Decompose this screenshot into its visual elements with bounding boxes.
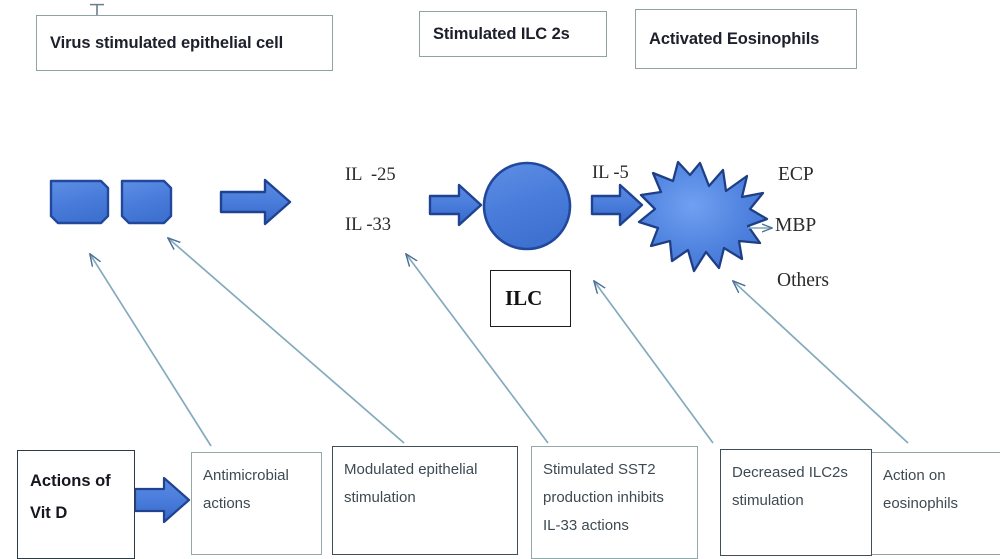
block-arrow-cytokines-to-ilc: [430, 185, 481, 225]
il-25-label: IL -25: [345, 165, 396, 186]
activated-eosinophil-shape: [639, 162, 767, 271]
ecp-label: ECP: [778, 164, 814, 186]
action-on-eosinophils-label: Action on eosinophils: [872, 453, 958, 518]
virus-stimulated-epithelial-cell-box[interactable]: Virus stimulated epithelial cell: [36, 15, 333, 71]
il-33-label: IL -33: [345, 215, 391, 236]
decreased-ilc2s-stimulation-label: Decreased ILC2s stimulation: [721, 450, 848, 515]
connector-decreased-ilc2s-to-ilc: [594, 281, 713, 443]
connector-antimicrobial-to-epithelium: [90, 254, 211, 446]
stimulated-ilc2s-box[interactable]: Stimulated ILC 2s: [419, 11, 607, 57]
ilc-label: ILC: [491, 286, 542, 311]
antimicrobial-actions-label: Antimicrobial actions: [192, 453, 289, 518]
mbp-label: MBP: [775, 215, 816, 237]
action-on-eosinophils-box[interactable]: Action on eosinophils: [872, 452, 1000, 555]
actions-of-vit-d-box[interactable]: Actions of Vit D: [17, 450, 135, 559]
ilc-label-box[interactable]: ILC: [490, 270, 571, 327]
tick-mark-above-epithelial-box: [90, 4, 104, 15]
antimicrobial-actions-box[interactable]: Antimicrobial actions: [191, 452, 322, 555]
epithelial-cell-shape-2: [122, 181, 171, 223]
diagram-canvas: Virus stimulated epithelial cell Stimula…: [0, 0, 1000, 559]
block-arrow-ilc-to-eosinophil: [592, 185, 642, 225]
block-arrow-epithelium-to-cytokines: [221, 180, 290, 224]
modulated-epithelial-stimulation-box[interactable]: Modulated epithelial stimulation: [332, 446, 518, 555]
stimulated-sst2-production-box[interactable]: Stimulated SST2 production inhibits IL-3…: [531, 446, 698, 559]
stimulated-ilc2s-label: Stimulated ILC 2s: [420, 25, 570, 43]
others-label: Others: [777, 270, 829, 292]
il-5-label: IL -5: [592, 163, 629, 184]
connector-modulated-epithelial-to-epithelium: [168, 238, 404, 443]
activated-eosinophils-box[interactable]: Activated Eosinophils: [635, 9, 857, 69]
activated-eosinophils-label: Activated Eosinophils: [636, 30, 819, 48]
ilc-cell-circle: [484, 163, 570, 249]
connector-action-on-eosinophils-to-eosinophil: [733, 281, 908, 443]
modulated-epithelial-stimulation-label: Modulated epithelial stimulation: [333, 447, 477, 512]
stimulated-sst2-production-label: Stimulated SST2 production inhibits IL-3…: [532, 447, 664, 539]
virus-stimulated-epithelial-cell-label: Virus stimulated epithelial cell: [37, 34, 283, 52]
block-arrow-vitd-to-antimicrobial: [135, 478, 189, 522]
actions-of-vit-d-label: Actions of Vit D: [18, 451, 111, 529]
decreased-ilc2s-stimulation-box[interactable]: Decreased ILC2s stimulation: [720, 449, 872, 556]
epithelial-cell-shape-1: [51, 181, 108, 223]
